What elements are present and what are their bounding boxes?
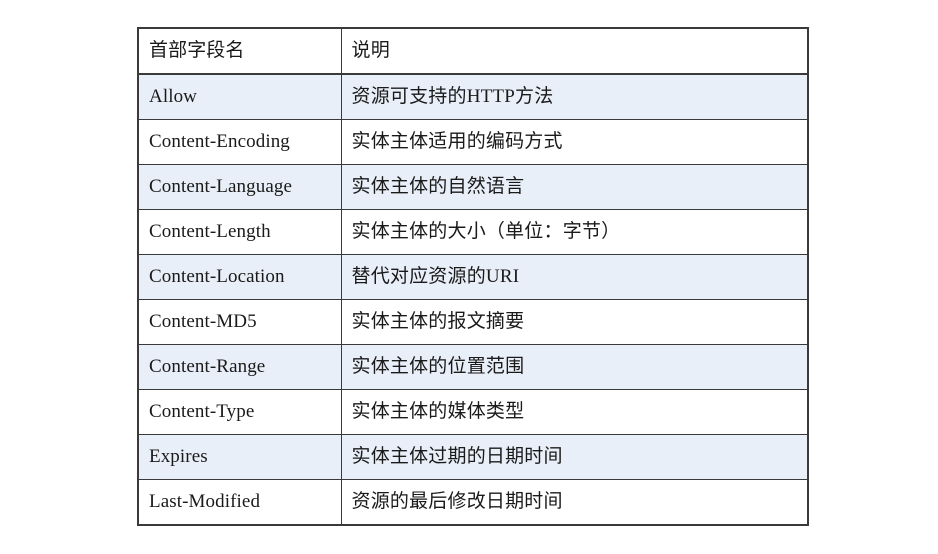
- cell-field-name: Allow: [138, 74, 341, 120]
- cell-description: 实体主体的媒体类型: [341, 390, 808, 435]
- cell-description: 实体主体适用的编码方式: [341, 120, 808, 165]
- cell-description: 实体主体过期的日期时间: [341, 435, 808, 480]
- table-row: Content-Type 实体主体的媒体类型: [138, 390, 808, 435]
- cell-field-name: Last-Modified: [138, 480, 341, 526]
- cell-description: 实体主体的大小（单位：字节）: [341, 210, 808, 255]
- cell-field-name: Content-Type: [138, 390, 341, 435]
- table-row: Content-Location 替代对应资源的URI: [138, 255, 808, 300]
- cell-field-name: Content-Range: [138, 345, 341, 390]
- cell-description: 实体主体的位置范围: [341, 345, 808, 390]
- cell-field-name: Content-Language: [138, 165, 341, 210]
- cell-description: 资源可支持的HTTP方法: [341, 74, 808, 120]
- table-row: Content-Range 实体主体的位置范围: [138, 345, 808, 390]
- table-row: Content-Length 实体主体的大小（单位：字节）: [138, 210, 808, 255]
- table-container: 首部字段名 说明 Allow 资源可支持的HTTP方法 Content-Enco…: [137, 27, 807, 526]
- document-page: 首部字段名 说明 Allow 资源可支持的HTTP方法 Content-Enco…: [0, 0, 938, 554]
- cell-field-name: Content-Location: [138, 255, 341, 300]
- cell-field-name: Content-Encoding: [138, 120, 341, 165]
- column-header-description: 说明: [341, 28, 808, 74]
- table-header: 首部字段名 说明: [138, 28, 808, 74]
- table-row: Allow 资源可支持的HTTP方法: [138, 74, 808, 120]
- table-row: Content-Encoding 实体主体适用的编码方式: [138, 120, 808, 165]
- table-row: Last-Modified 资源的最后修改日期时间: [138, 480, 808, 526]
- cell-field-name: Content-Length: [138, 210, 341, 255]
- table-body: Allow 资源可支持的HTTP方法 Content-Encoding 实体主体…: [138, 74, 808, 525]
- cell-description: 替代对应资源的URI: [341, 255, 808, 300]
- cell-description: 实体主体的报文摘要: [341, 300, 808, 345]
- cell-field-name: Content-MD5: [138, 300, 341, 345]
- table-row: Content-Language 实体主体的自然语言: [138, 165, 808, 210]
- table-header-row: 首部字段名 说明: [138, 28, 808, 74]
- cell-description: 资源的最后修改日期时间: [341, 480, 808, 526]
- entity-header-fields-table: 首部字段名 说明 Allow 资源可支持的HTTP方法 Content-Enco…: [137, 27, 809, 526]
- table-row: Content-MD5 实体主体的报文摘要: [138, 300, 808, 345]
- cell-description: 实体主体的自然语言: [341, 165, 808, 210]
- column-header-field-name: 首部字段名: [138, 28, 341, 74]
- cell-field-name: Expires: [138, 435, 341, 480]
- table-row: Expires 实体主体过期的日期时间: [138, 435, 808, 480]
